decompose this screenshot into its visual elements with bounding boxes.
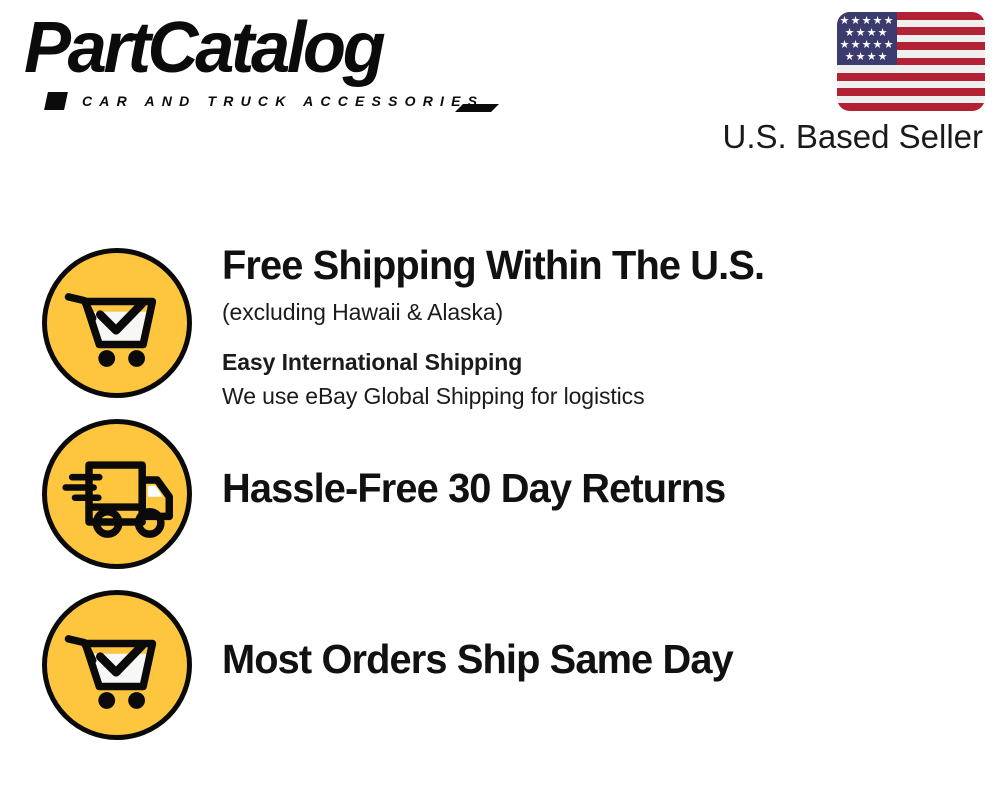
benefit-heading: Hassle-Free 30 Day Returns bbox=[222, 465, 959, 511]
benefit-text-same-day: Most Orders Ship Same Day bbox=[222, 636, 982, 682]
flag-star: ★ bbox=[866, 28, 877, 39]
flag-star: ★ bbox=[855, 28, 866, 39]
benefit-text-free-shipping: Free Shipping Within The U.S. (excluding… bbox=[222, 242, 982, 412]
benefit-heading: Free Shipping Within The U.S. bbox=[222, 242, 959, 288]
benefit-row-returns: Hassle-Free 30 Day Returns bbox=[0, 419, 1000, 579]
page-header: PartCatalog CAR AND TRUCK ACCESSORIES ★ … bbox=[0, 0, 1000, 180]
us-based-seller-label: U.S. Based Seller bbox=[723, 117, 983, 157]
logo-right-slab bbox=[455, 104, 499, 112]
us-flag-icon: ★ ★ ★ ★ ★ ★ ★ ★ ★ ★ ★ ★ ★ ★ ★ ★ ★ ★ bbox=[837, 12, 985, 111]
flag-star: ★ bbox=[877, 52, 888, 63]
shopping-cart-check-icon bbox=[42, 248, 192, 398]
benefit-subtext-logistics: We use eBay Global Shipping for logistic… bbox=[222, 380, 982, 412]
flag-star: ★ bbox=[850, 40, 861, 51]
delivery-truck-icon bbox=[42, 419, 192, 569]
flag-star: ★ bbox=[872, 40, 883, 51]
flag-stripe bbox=[837, 73, 985, 81]
flag-star: ★ bbox=[861, 16, 872, 27]
brand-wordmark: PartCatalog bbox=[24, 12, 382, 84]
flag-star: ★ bbox=[861, 40, 872, 51]
flag-stripe bbox=[837, 65, 985, 73]
flag-stripe bbox=[837, 96, 985, 104]
flag-stripe bbox=[837, 81, 985, 89]
benefit-subtext-exclusions: (excluding Hawaii & Alaska) bbox=[222, 296, 982, 328]
benefit-text-returns: Hassle-Free 30 Day Returns bbox=[222, 465, 982, 511]
flag-star: ★ bbox=[866, 52, 877, 63]
flag-canton: ★ ★ ★ ★ ★ ★ ★ ★ ★ ★ ★ ★ ★ ★ ★ ★ ★ ★ bbox=[837, 12, 897, 65]
logo-left-slab bbox=[44, 92, 68, 110]
flag-star: ★ bbox=[839, 40, 850, 51]
flag-star: ★ bbox=[844, 28, 855, 39]
benefit-heading: Most Orders Ship Same Day bbox=[222, 636, 959, 682]
flag-star: ★ bbox=[844, 52, 855, 63]
benefit-row-same-day-shipping: Most Orders Ship Same Day bbox=[0, 590, 1000, 750]
brand-logo[interactable]: PartCatalog CAR AND TRUCK ACCESSORIES bbox=[24, 18, 494, 118]
benefit-subtext-international: Easy International Shipping bbox=[222, 346, 982, 378]
flag-star: ★ bbox=[839, 16, 850, 27]
flag-star: ★ bbox=[883, 16, 894, 27]
flag-star: ★ bbox=[855, 52, 866, 63]
flag-star: ★ bbox=[872, 16, 883, 27]
brand-tagline: CAR AND TRUCK ACCESSORIES bbox=[82, 94, 484, 108]
flag-star: ★ bbox=[877, 28, 888, 39]
flag-stripe bbox=[837, 103, 985, 111]
flag-star: ★ bbox=[850, 16, 861, 27]
shopping-cart-check-icon bbox=[42, 590, 192, 740]
benefit-row-free-shipping: Free Shipping Within The U.S. (excluding… bbox=[0, 248, 1000, 408]
flag-stripe bbox=[837, 88, 985, 96]
flag-star: ★ bbox=[883, 40, 894, 51]
us-based-seller-badge: ★ ★ ★ ★ ★ ★ ★ ★ ★ ★ ★ ★ ★ ★ ★ ★ ★ ★ bbox=[715, 12, 985, 162]
